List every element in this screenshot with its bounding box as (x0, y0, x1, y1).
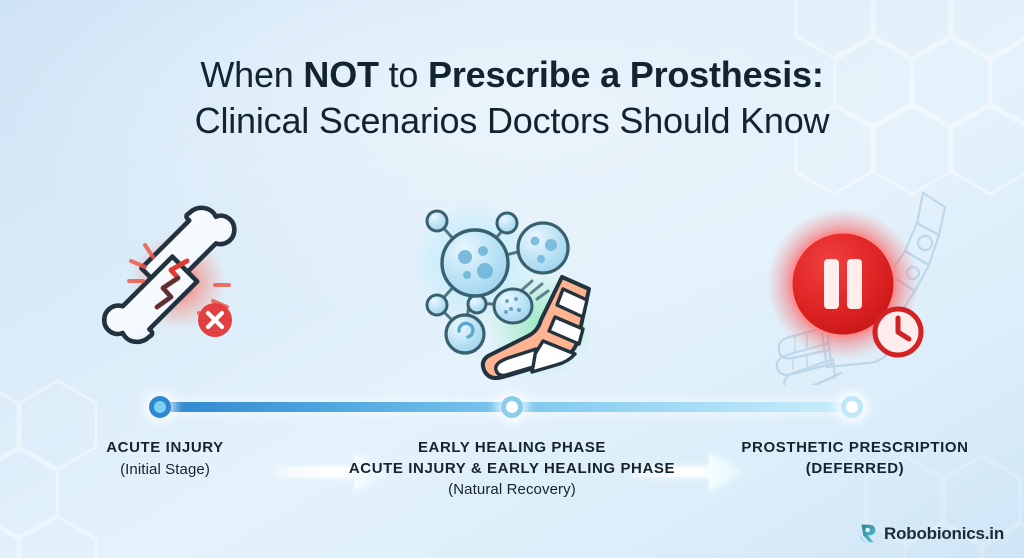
stage-illustration-row (0, 185, 1024, 385)
progress-timeline (0, 386, 1024, 428)
timeline-node-1 (144, 391, 176, 423)
title-line-1: When NOT to Prescribe a Prosthesis: (0, 52, 1024, 98)
title-word-when: When (200, 54, 303, 95)
stage-label-subtitle: (Initial Stage) (40, 459, 290, 481)
brand-logo[interactable]: Robobionics.in (858, 523, 1004, 544)
stage-label-acute-injury: ACUTE INJURY (Initial Stage) (40, 438, 290, 480)
stage-labels: ACUTE INJURY (Initial Stage) EARLY HEALI… (0, 438, 1024, 518)
cells-bandaged-foot-icon (403, 185, 613, 385)
red-x-badge (198, 303, 232, 337)
stage-label-prosthetic-prescription: PROSTHETIC PRESCRIPTION (DEFERRED) (710, 438, 1000, 479)
stage-label-title: ACUTE INJURY (40, 438, 290, 459)
infographic-canvas: When NOT to Prescribe a Prosthesis: Clin… (0, 0, 1024, 558)
clock-badge (875, 309, 921, 355)
pause-prosthetic-hand-icon (755, 185, 965, 385)
timeline-node-2 (496, 391, 528, 423)
stage-label-title: PROSTHETIC PRESCRIPTION (710, 438, 1000, 459)
page-title: When NOT to Prescribe a Prosthesis: Clin… (0, 52, 1024, 144)
title-word-not: NOT (303, 54, 378, 95)
stage-label-subtitle: (DEFERRED) (710, 459, 1000, 480)
timeline-node-3 (836, 391, 868, 423)
robobionics-r-logo-icon (858, 523, 879, 544)
stage-label-early-healing: EARLY HEALING PHASE ACUTE INJURY & EARLY… (297, 438, 727, 501)
title-phrase-prescribe: Prescribe a Prosthesis: (428, 54, 824, 95)
stage-label-subtitle: (Natural Recovery) (297, 479, 727, 501)
brand-name: Robobionics.in (884, 524, 1004, 544)
stage-label-title: EARLY HEALING PHASE (297, 438, 727, 459)
title-word-to: to (379, 54, 428, 95)
broken-bone-icon (75, 185, 285, 385)
stage-label-title-alt: ACUTE INJURY & EARLY HEALING PHASE (297, 459, 727, 480)
title-line-2: Clinical Scenarios Doctors Should Know (0, 98, 1024, 144)
